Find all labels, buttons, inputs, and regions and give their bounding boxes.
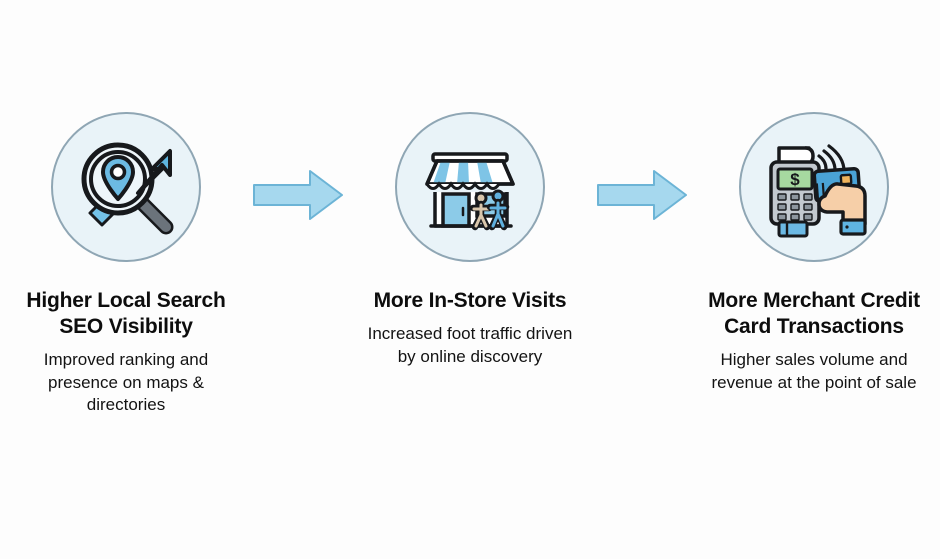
step-desc-line2: revenue at the point of sale	[711, 373, 916, 392]
icon-circle-1	[51, 112, 201, 262]
step-desc-line2: presence on maps &	[48, 373, 204, 392]
step-title-2: More In-Store Visits	[374, 288, 567, 314]
icon-circle-3: $	[739, 112, 889, 262]
icon-circle-2	[395, 112, 545, 262]
diagram-canvas: Higher Local Search SEO Visibility Impro…	[0, 0, 940, 559]
step-desc-1: Improved ranking and presence on maps & …	[44, 349, 208, 417]
pos-terminal-card-payment-icon: $	[753, 126, 875, 248]
step-desc-3: Higher sales volume and revenue at the p…	[711, 349, 916, 394]
connector-2	[596, 112, 688, 223]
step-title-line1: More Merchant Credit	[708, 289, 920, 312]
flow-step-3: $	[688, 112, 940, 394]
arrow-right-icon	[596, 167, 688, 223]
step-title-1: Higher Local Search SEO Visibility	[26, 288, 225, 340]
connector-1	[252, 112, 344, 223]
step-title-line1: More In-Store Visits	[374, 289, 567, 312]
step-desc-line2: by online discovery	[398, 347, 543, 366]
step-desc-2: Increased foot traffic driven by online …	[368, 323, 573, 368]
flow-step-2: More In-Store Visits Increased foot traf…	[344, 112, 596, 368]
flow-container: Higher Local Search SEO Visibility Impro…	[0, 112, 940, 417]
step-title-3: More Merchant Credit Card Transactions	[708, 288, 920, 340]
storefront-pedestrians-icon	[411, 128, 529, 246]
step-title-line2: SEO Visibility	[59, 315, 192, 338]
step-title-line2: Card Transactions	[724, 315, 904, 338]
step-desc-line1: Higher sales volume and	[720, 350, 907, 369]
arrow-right-icon	[252, 167, 344, 223]
step-desc-line1: Improved ranking and	[44, 350, 208, 369]
svg-text:$: $	[790, 170, 800, 189]
step-title-line1: Higher Local Search	[26, 289, 225, 312]
step-desc-line3: directories	[87, 395, 165, 414]
flow-step-1: Higher Local Search SEO Visibility Impro…	[0, 112, 252, 417]
step-desc-line1: Increased foot traffic driven	[368, 324, 573, 343]
search-location-growth-icon	[66, 127, 186, 247]
